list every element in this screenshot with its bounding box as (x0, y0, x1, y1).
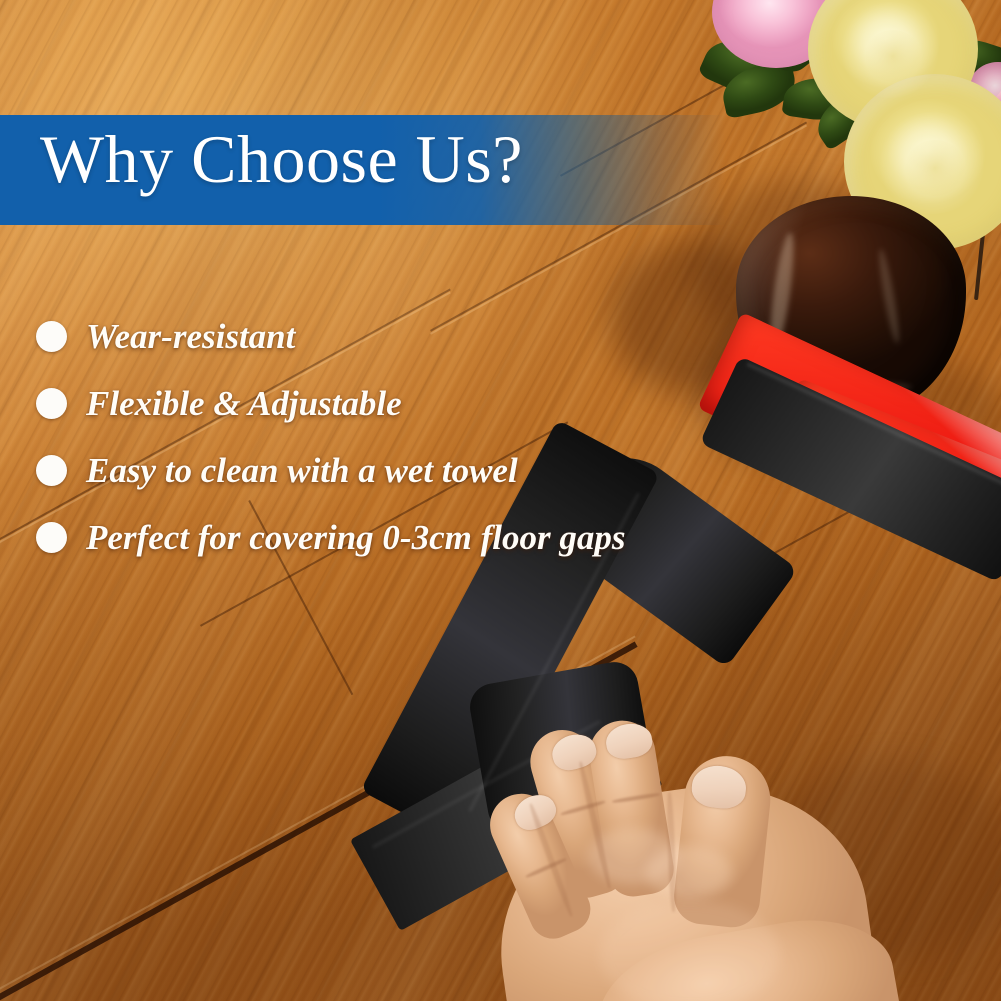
list-item: Perfect for covering 0-3cm floor gaps (36, 504, 625, 571)
feature-list: Wear-resistant Flexible & Adjustable Eas… (36, 303, 625, 571)
page-title: Why Choose Us? (40, 125, 523, 193)
circle-bullet-icon (36, 388, 67, 419)
list-item: Wear-resistant (36, 303, 625, 370)
feature-text: Easy to clean with a wet towel (86, 453, 518, 488)
product-feature-image: Why Choose Us? Wear-resistant Flexible &… (0, 0, 1001, 1001)
list-item: Flexible & Adjustable (36, 370, 625, 437)
circle-bullet-icon (36, 522, 67, 553)
flower-petal (904, 140, 966, 196)
hand-highlight (600, 900, 780, 1001)
flower-bouquet (696, 0, 1001, 300)
feature-text: Flexible & Adjustable (86, 386, 402, 421)
circle-bullet-icon (36, 321, 67, 352)
feature-text: Perfect for covering 0-3cm floor gaps (86, 520, 625, 555)
feature-text: Wear-resistant (86, 319, 295, 354)
flower-petal (864, 30, 922, 82)
knuckle-highlight (646, 846, 732, 898)
list-item: Easy to clean with a wet towel (36, 437, 625, 504)
circle-bullet-icon (36, 455, 67, 486)
